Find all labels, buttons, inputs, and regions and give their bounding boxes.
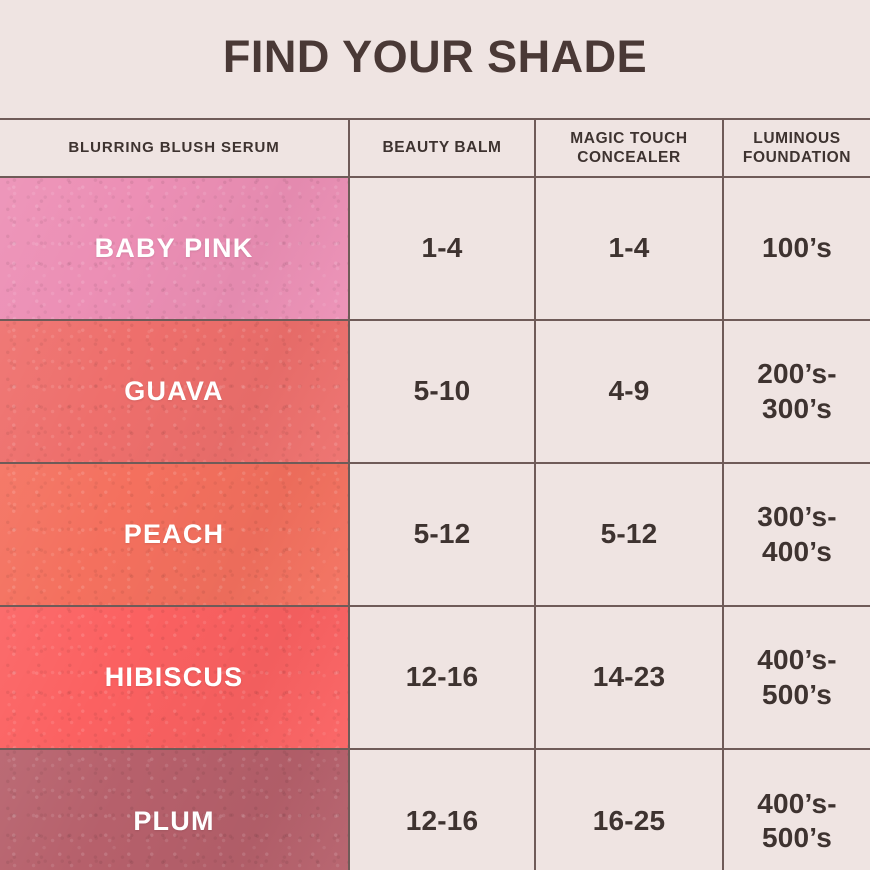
swatch-fill: BABY PINK: [0, 178, 348, 319]
shade-swatch-baby-pink[interactable]: BABY PINK: [0, 177, 349, 320]
beauty-balm-value: 5-10: [349, 320, 535, 463]
foundation-value: 100’s: [723, 177, 870, 320]
shade-swatch-peach[interactable]: PEACH: [0, 463, 349, 606]
column-header-beauty-balm: BEAUTY BALM: [349, 119, 535, 177]
swatch-fill: PLUM: [0, 750, 348, 870]
shade-name-label: HIBISCUS: [105, 664, 244, 691]
swatch-fill: GUAVA: [0, 321, 348, 462]
table-row: BABY PINK 1-4 1-4 100’s: [0, 177, 870, 320]
table-row: PLUM 12-16 16-25 400’s- 500’s: [0, 749, 870, 870]
beauty-balm-value: 5-12: [349, 463, 535, 606]
beauty-balm-value: 1-4: [349, 177, 535, 320]
shade-swatch-guava[interactable]: GUAVA: [0, 320, 349, 463]
concealer-value: 4-9: [535, 320, 723, 463]
beauty-balm-value: 12-16: [349, 606, 535, 749]
swatch-fill: PEACH: [0, 464, 348, 605]
shade-swatch-plum[interactable]: PLUM: [0, 749, 349, 870]
swatch-fill: HIBISCUS: [0, 607, 348, 748]
shade-name-label: PLUM: [133, 808, 214, 835]
page-header: FIND YOUR SHADE: [0, 0, 870, 118]
shade-swatch-hibiscus[interactable]: HIBISCUS: [0, 606, 349, 749]
foundation-value: 400’s- 500’s: [723, 606, 870, 749]
column-header-luminous-foundation: LUMINOUS FOUNDATION: [723, 119, 870, 177]
foundation-value: 400’s- 500’s: [723, 749, 870, 870]
foundation-value: 200’s- 300’s: [723, 320, 870, 463]
shade-match-table: BLURRING BLUSH SERUM BEAUTY BALM MAGIC T…: [0, 118, 870, 870]
shade-name-label: PEACH: [124, 521, 225, 548]
column-header-blurring-blush-serum: BLURRING BLUSH SERUM: [0, 119, 349, 177]
shade-name-label: BABY PINK: [95, 235, 254, 262]
beauty-balm-value: 12-16: [349, 749, 535, 870]
table-row: HIBISCUS 12-16 14-23 400’s- 500’s: [0, 606, 870, 749]
shade-finder-page: FIND YOUR SHADE BLURRING BLUSH SERUM BEA…: [0, 0, 870, 870]
concealer-value: 14-23: [535, 606, 723, 749]
column-header-magic-touch-concealer: MAGIC TOUCH CONCEALER: [535, 119, 723, 177]
concealer-value: 5-12: [535, 463, 723, 606]
concealer-value: 16-25: [535, 749, 723, 870]
table-row: GUAVA 5-10 4-9 200’s- 300’s: [0, 320, 870, 463]
table-row: PEACH 5-12 5-12 300’s- 400’s: [0, 463, 870, 606]
shade-name-label: GUAVA: [124, 378, 224, 405]
concealer-value: 1-4: [535, 177, 723, 320]
table-header-row: BLURRING BLUSH SERUM BEAUTY BALM MAGIC T…: [0, 119, 870, 177]
foundation-value: 300’s- 400’s: [723, 463, 870, 606]
table-body: BABY PINK 1-4 1-4 100’s GUAVA 5-10 4-9 2…: [0, 177, 870, 870]
page-title: FIND YOUR SHADE: [223, 34, 647, 85]
